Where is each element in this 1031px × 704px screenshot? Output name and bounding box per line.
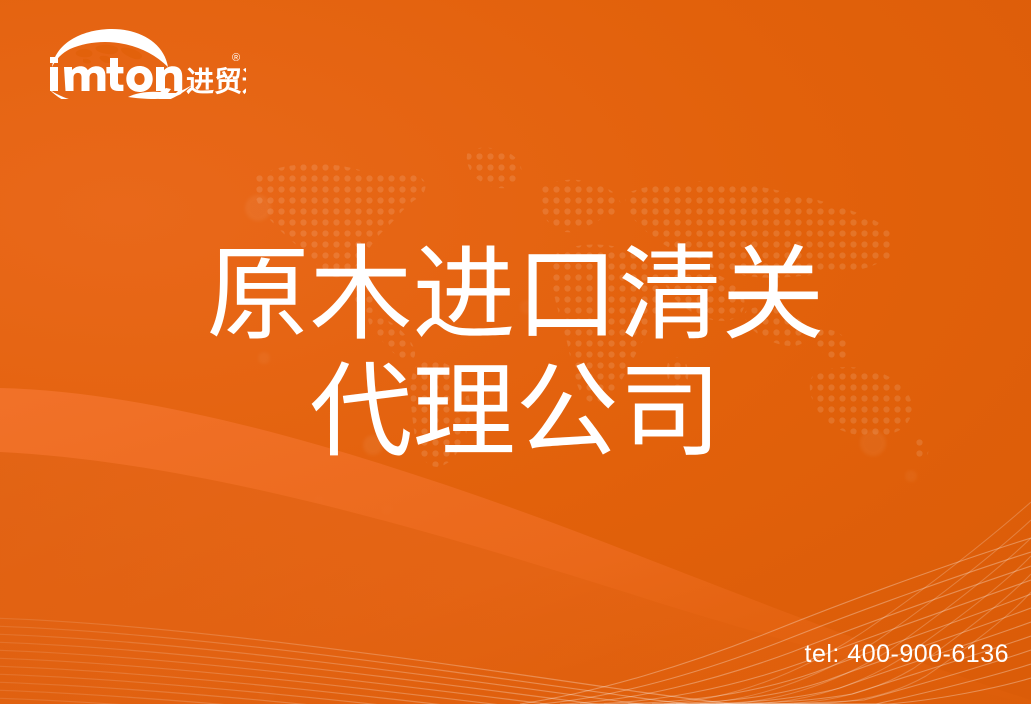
- logo-chinese-name: 进贸通: [186, 65, 246, 98]
- contact-phone[interactable]: tel: 400-900-6136: [805, 640, 1009, 668]
- title-line-1: 原木进口清关: [0, 236, 1031, 353]
- poster-canvas: 进贸通 ® 原木进口清关 代理公司 tel: 400-900-6136: [0, 0, 1031, 704]
- brand-logo[interactable]: 进贸通 ®: [36, 27, 246, 99]
- title-line-2: 代理公司: [0, 353, 1031, 470]
- registered-mark: ®: [232, 52, 240, 64]
- page-title: 原木进口清关 代理公司: [0, 236, 1031, 470]
- wordmark-text: [50, 57, 182, 92]
